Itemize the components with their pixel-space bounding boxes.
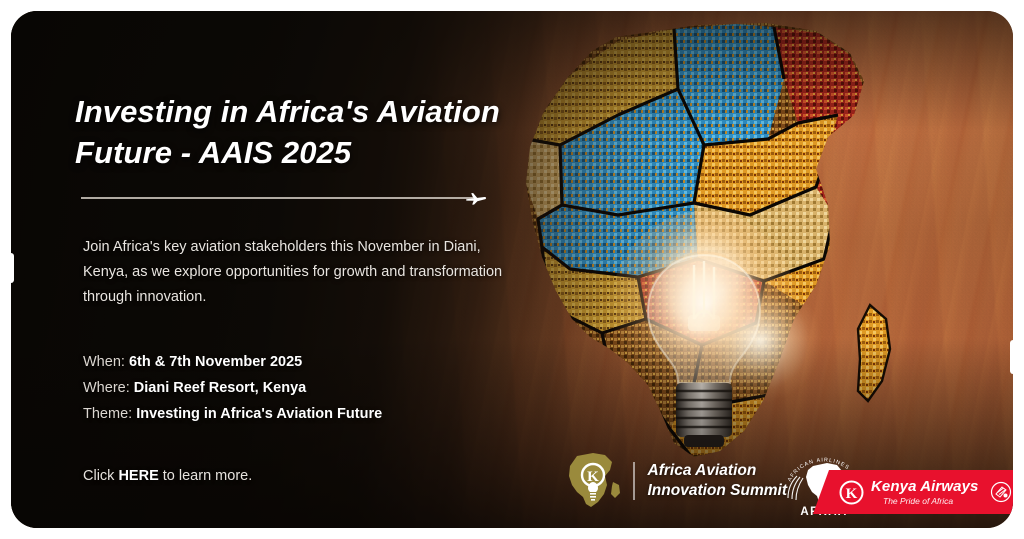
device-frame: Investing in Africa's Aviation Future - … <box>0 0 1024 539</box>
detail-label-where: Where: <box>83 380 130 396</box>
banner-description: Join Africa's key aviation stakeholders … <box>83 235 523 310</box>
detail-value-theme: Investing in Africa's Aviation Future <box>136 406 382 422</box>
detail-row-when: When: 6th & 7th November 2025 <box>83 350 535 376</box>
aais-line-1: Africa Aviation <box>648 462 757 479</box>
africa-lightbulb-k-icon: K <box>563 452 627 510</box>
detail-label-when: When: <box>83 354 125 370</box>
svg-text:K: K <box>846 486 858 502</box>
page-title: Investing in Africa's Aviation Future - … <box>75 91 535 173</box>
kenya-airways-logo[interactable]: K Kenya Airways The Pride of Africa <box>813 470 1013 514</box>
detail-label-theme: Theme: <box>83 406 132 422</box>
kenya-airways-k-icon: K <box>839 480 864 505</box>
title-divider <box>81 191 487 205</box>
detail-row-theme: Theme: Investing in Africa's Aviation Fu… <box>83 402 535 428</box>
ka-seal-icon <box>990 481 1012 503</box>
logo-bar: K Africa Aviation Innovation Summit <box>11 442 1013 528</box>
kenya-airways-tagline: The Pride of Africa <box>883 497 978 506</box>
aais-line-2: Innovation Summit <box>648 482 788 499</box>
kenya-airways-wordmark: Kenya Airways <box>871 479 978 494</box>
bezel-notch-left <box>0 253 14 283</box>
banner-copy: Investing in Africa's Aviation Future - … <box>75 91 535 484</box>
banner-screen: Investing in Africa's Aviation Future - … <box>11 11 1013 528</box>
detail-row-where: Where: Diani Reef Resort, Kenya <box>83 376 535 402</box>
detail-value-where: Diani Reef Resort, Kenya <box>134 380 306 396</box>
logo-divider <box>633 462 635 500</box>
bezel-notch-right <box>1010 340 1024 374</box>
aais-wordmark: Africa Aviation Innovation Summit <box>648 461 788 501</box>
detail-value-when: 6th & 7th November 2025 <box>129 354 302 370</box>
aais-logo[interactable]: K Africa Aviation Innovation Summit <box>563 452 787 510</box>
divider-line <box>81 197 473 199</box>
event-details: When: 6th & 7th November 2025 Where: Dia… <box>83 350 535 427</box>
airplane-icon <box>465 191 487 205</box>
